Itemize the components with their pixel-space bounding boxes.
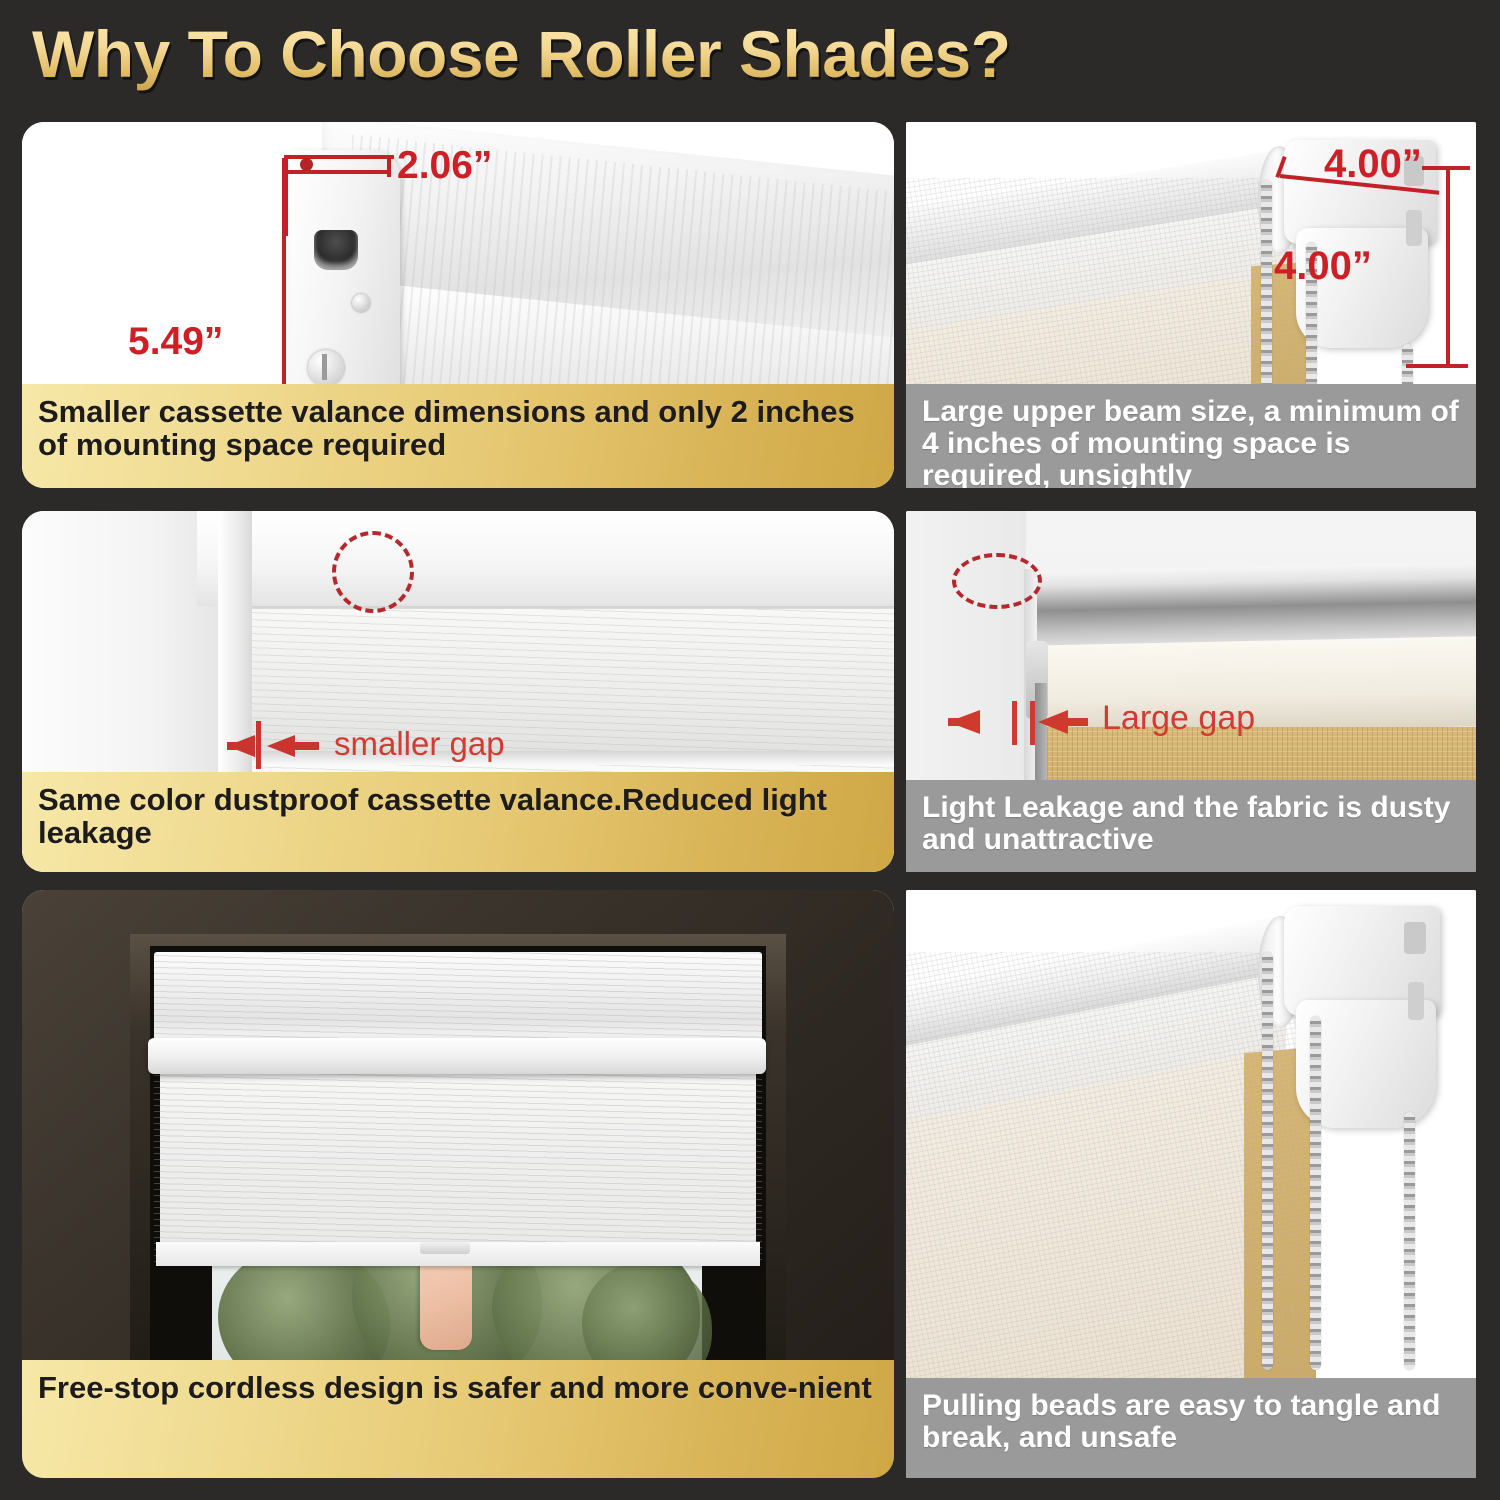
panel-caption-pro-cassette-dimensions: Smaller cassette valance dimensions and … [22,384,894,488]
dimension-arrow-top [284,155,394,159]
gap-label-smaller: smaller gap [334,725,505,763]
dimension-label-width: 2.06” [397,144,492,188]
header-bar: Why To Choose Roller Shades? [0,0,1500,112]
dimension-line-width [284,170,390,174]
panel-pro-cordless: Free-stop cordless design is safer and m… [22,890,894,1478]
gap-marker-line [256,721,261,769]
panel-con-beaded-chain: Pulling beads are easy to tangle and bre… [906,890,1476,1478]
gap-label-large: Large gap [1102,699,1255,738]
panel-caption-con-large-beam: Large upper beam size, a minimum of 4 in… [906,384,1476,488]
panel-pro-smaller-gap: smaller gap Same color dustproof cassett… [22,511,894,872]
gap-marker-line-right [1030,701,1035,745]
panel-con-light-leakage: Large gap Light Leakage and the fabric i… [906,511,1476,872]
dimension-line-height [1446,170,1450,366]
gap-arrow-right-icon [267,729,337,763]
gap-arrow-right-icon [1038,705,1100,739]
dimension-label-width: 4.00” [1324,142,1422,187]
dimension-tick-bottom [1406,364,1468,368]
panel-caption-con-light-leakage: Light Leakage and the fabric is dusty an… [906,780,1476,872]
dimension-tick-top [1422,166,1470,170]
highlight-circle-annotation [952,553,1042,609]
gap-marker-line-left [1012,701,1017,745]
panel-con-large-beam: 4.00” 4.00” Large upper beam size, a min… [906,122,1476,488]
page-title: Why To Choose Roller Shades? [32,16,1011,92]
dimension-label-height: 4.00” [1274,244,1372,289]
panel-caption-pro-cordless: Free-stop cordless design is safer and m… [22,1360,894,1478]
panel-caption-pro-smaller-gap: Same color dustproof cassette valance.Re… [22,772,894,872]
highlight-circle-annotation [332,531,414,613]
panel-pro-cassette-dimensions: 2.06” 5.49” Smaller cassette valance dim… [22,122,894,488]
dimension-label-height: 5.49” [128,320,223,364]
gap-arrow-left-icon [948,705,1038,739]
dimension-tick-right [387,155,391,177]
panel-caption-con-beaded-chain: Pulling beads are easy to tangle and bre… [906,1378,1476,1478]
